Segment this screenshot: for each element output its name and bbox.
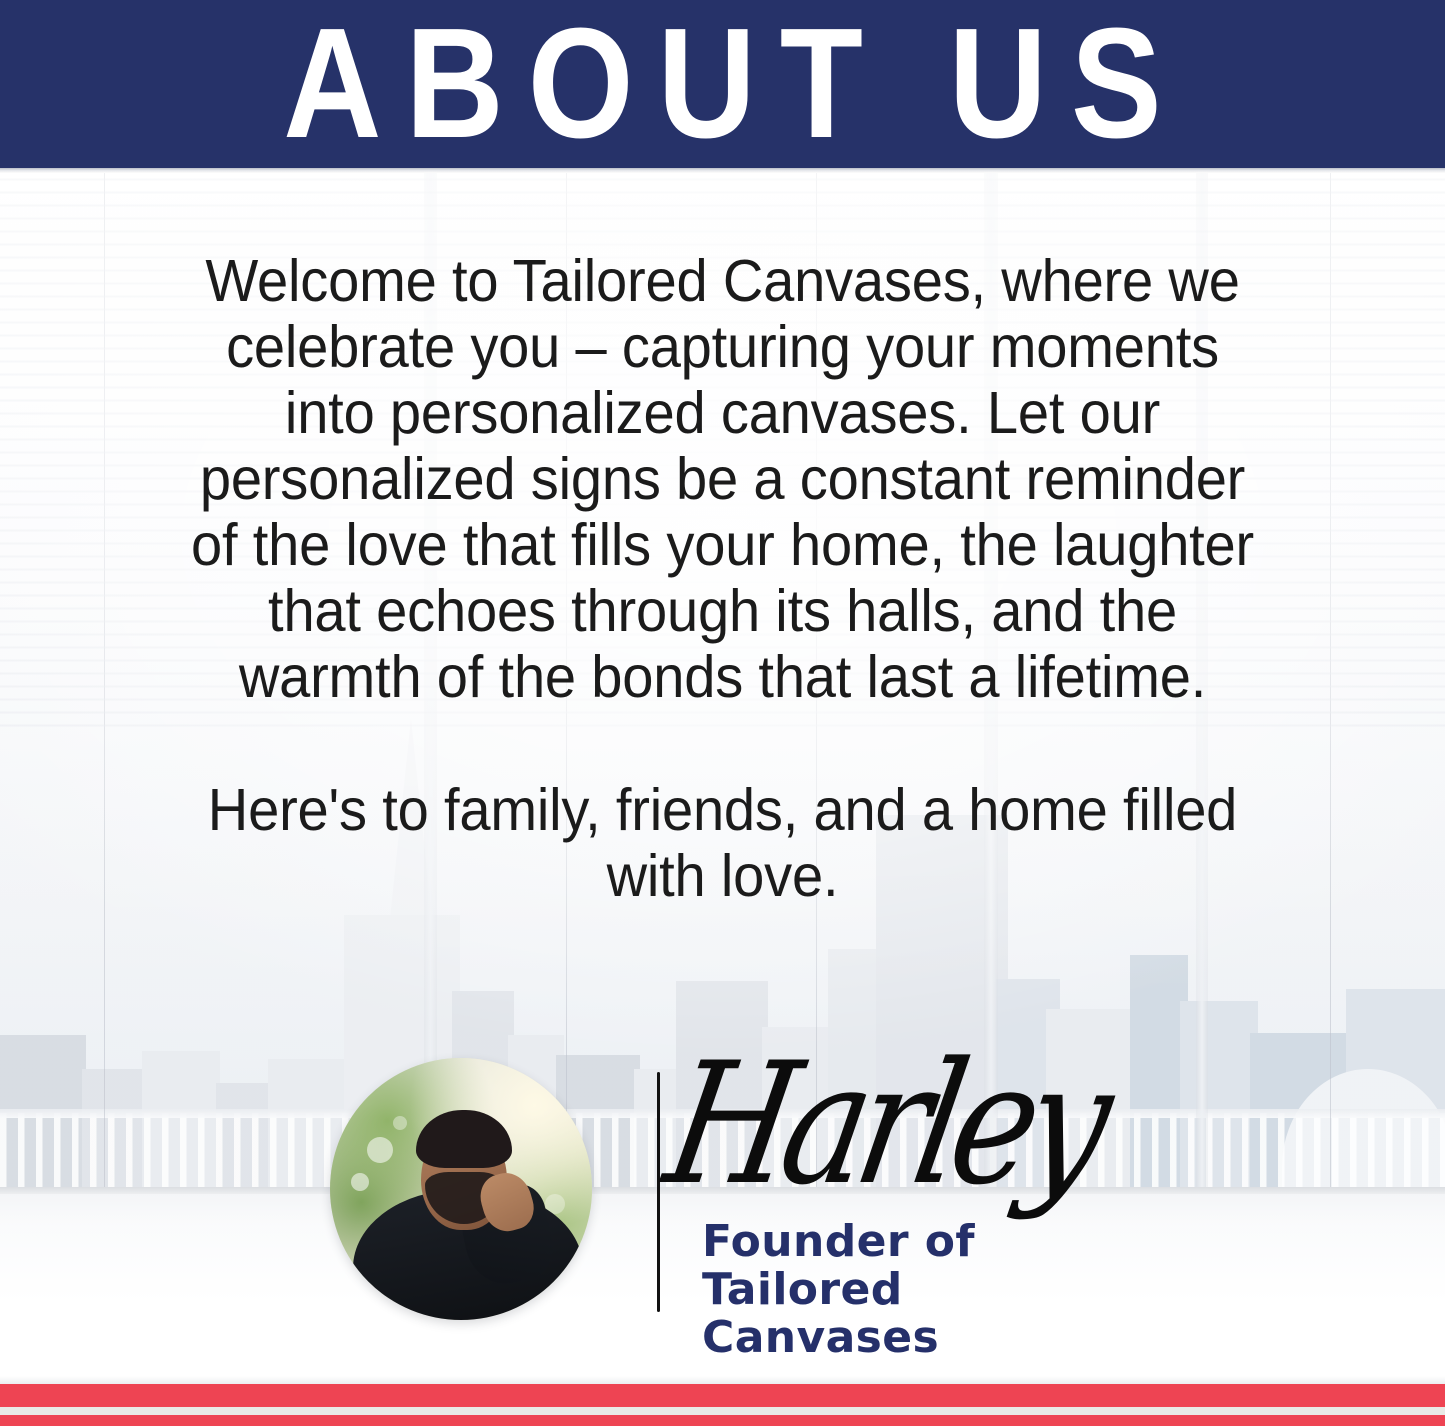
about-us-header-banner: ABOUT US <box>0 0 1445 168</box>
founder-role-line-2: Canvases <box>702 1312 939 1363</box>
avatar-photo <box>330 1058 592 1320</box>
copy-paragraph-2: Here's to family, friends, and a home fi… <box>179 777 1267 909</box>
footer-stripe-bottom <box>0 1415 1445 1426</box>
bokeh-dot <box>393 1116 407 1130</box>
copy-paragraph-1: Welcome to Tailored Canvases, where we c… <box>179 248 1267 711</box>
page-title: ABOUT US <box>259 6 1185 163</box>
footer-stripe-gap <box>0 1407 1445 1415</box>
author-block: Harley Founder of Tailored Canvases <box>0 1050 1445 1340</box>
footer-stripe-top <box>0 1384 1445 1407</box>
founder-role-line-1: Founder of Tailored <box>702 1216 975 1315</box>
about-us-copy: Welcome to Tailored Canvases, where we c… <box>179 248 1267 909</box>
bokeh-dot <box>367 1137 393 1163</box>
founder-role: Founder of Tailored Canvases <box>702 1218 1142 1362</box>
about-us-page: ABOUT US Welcome to Tailored Canvases, w… <box>0 0 1445 1426</box>
founder-signature: Harley <box>656 1040 1085 1208</box>
header-underline <box>0 168 1445 173</box>
avatar <box>330 1058 592 1320</box>
signature-block: Harley Founder of Tailored Canvases <box>686 1050 1156 1340</box>
footer-fade <box>0 1376 1445 1384</box>
